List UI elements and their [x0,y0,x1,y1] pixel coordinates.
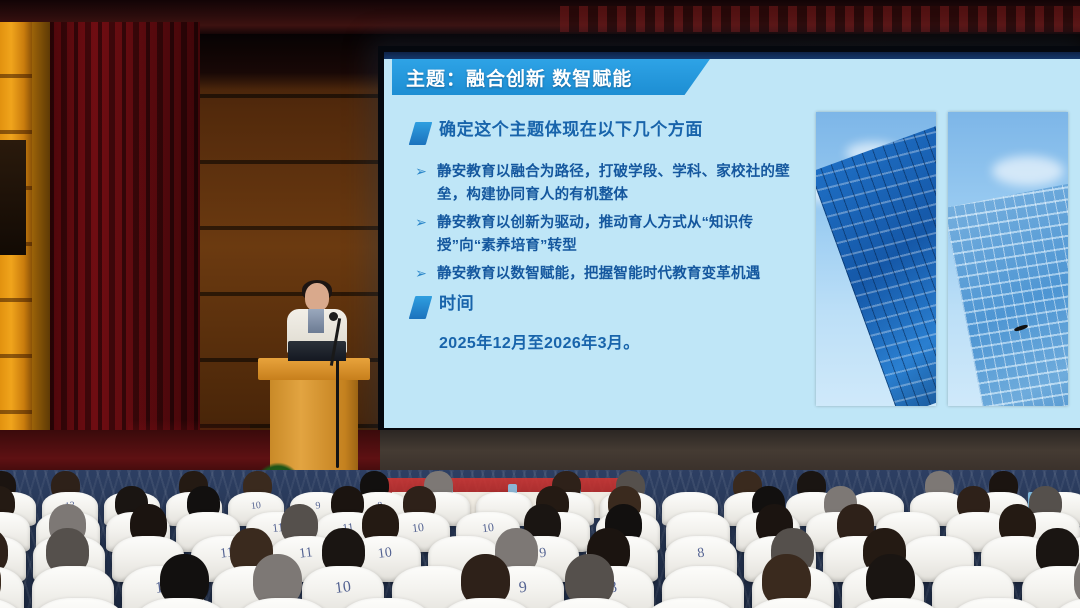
presentation-slide[interactable]: 主题：融合创新 数智赋能 确定这个主题体现在以下几个方面 ➢ 静安教育以融合为路… [384,52,1080,428]
slide-heading-1: 确定这个主题体现在以下几个方面 [439,120,703,140]
slide-heading-2-row: 时间 [412,294,812,319]
speaker-scarf [308,309,324,333]
arrow-bullet-icon: ➢ [412,263,430,285]
chair-number: 10 [377,546,393,564]
arrow-bullet-icon: ➢ [412,161,430,183]
slide-top-band [384,52,1080,59]
slide-heading-1-row: 确定这个主题体现在以下几个方面 [412,120,812,145]
conference-hall-scene: 主题：融合创新 数智赋能 确定这个主题体现在以下几个方面 ➢ 静安教育以融合为路… [0,0,1080,608]
slide-bullet-text: 静安教育以创新为驱动，推动育人方式从“知识传授”向“素养培育”转型 [437,212,809,258]
slide-bullet-item: ➢ 静安教育以融合为路径，打破学段、学科、家校社的壁垒，构建协同育人的有机整体 [412,161,812,207]
chair-number: 8 [697,546,706,563]
wall-speaker-box [0,140,26,255]
slide-bullet-item: ➢ 静安教育以创新为驱动，推动育人方式从“知识传授”向“素养培育”转型 [412,212,812,258]
chair-number: 9 [315,500,321,512]
chair-number: 9 [518,578,528,597]
slide-bullet-text: 静安教育以融合为路径，打破学段、学科、家校社的壁垒，构建协同育人的有机整体 [437,161,809,207]
slide-bullet-text: 静安教育以数智赋能，把握智能时代教育变革机遇 [437,263,809,286]
slide-title: 主题：融合创新 数智赋能 [392,64,632,91]
chair-number: 9 [539,546,548,563]
microphone-head-icon [329,312,338,321]
chair-number: 10 [334,578,352,598]
arrow-bullet-icon: ➢ [412,212,430,234]
photo-cloud [992,156,1064,186]
slash-marker-icon [409,122,433,145]
building-photo-left [816,112,936,406]
chair-number: 10 [481,520,495,536]
speaker-head [305,283,329,311]
microphone-cable [336,360,339,468]
podium-laptop [288,341,346,361]
slide-title-bar: 主题：融合创新 数智赋能 [392,59,710,95]
chair-number: 10 [411,520,425,536]
chair-number: 11 [298,546,313,564]
podium-top [258,358,370,380]
slide-photo-group [816,112,1074,406]
slide-heading-2: 时间 [439,294,474,314]
left-wood-pillar-shadow [32,22,50,480]
slide-text-column: 确定这个主题体现在以下几个方面 ➢ 静安教育以融合为路径，打破学段、学科、家校社… [412,120,812,353]
slide-time-note: 2025年12月至2026年3月。 [439,329,812,353]
slide-body: 确定这个主题体现在以下几个方面 ➢ 静安教育以融合为路径，打破学段、学科、家校社… [384,96,1080,428]
slash-marker-icon [409,296,433,319]
chair-number: 10 [250,500,261,512]
red-stage-curtain [50,22,200,490]
building-photo-right [948,112,1068,406]
slide-bullet-item: ➢ 静安教育以数智赋能，把握智能时代教育变革机遇 [412,263,812,286]
